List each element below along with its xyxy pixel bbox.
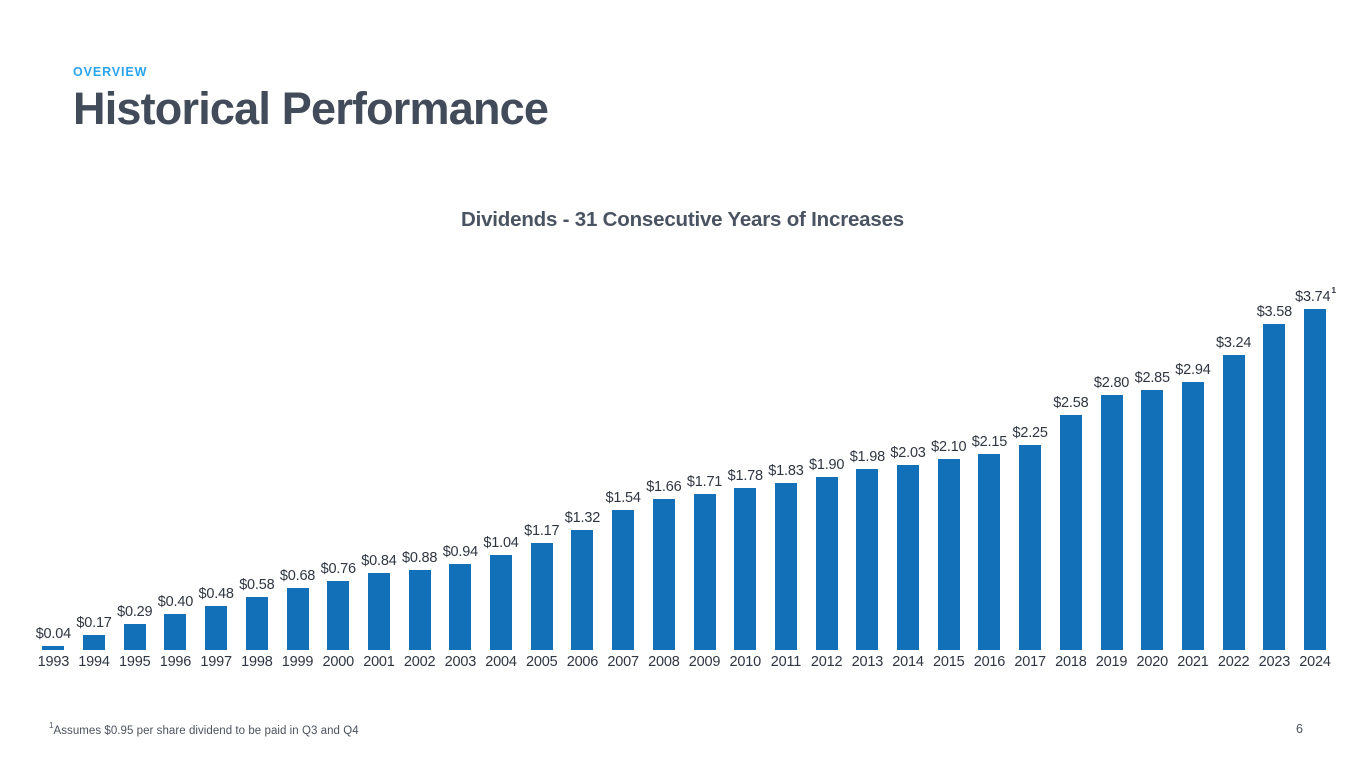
x-axis-label-2003: 2003 (445, 654, 476, 670)
bar-group-2009: $1.712009 (684, 262, 725, 650)
bar-1999 (287, 588, 309, 650)
x-axis-label-2005: 2005 (526, 654, 557, 670)
bar-value-label-2019: $2.80 (1094, 375, 1129, 391)
bar-group-1996: $0.401996 (155, 262, 196, 650)
x-axis-label-1999: 1999 (282, 654, 313, 670)
bar-value-label-2014: $2.03 (890, 445, 925, 461)
bar-group-1993: $0.041993 (33, 262, 74, 650)
bar-group-2005: $1.172005 (521, 262, 562, 650)
x-axis-label-2019: 2019 (1096, 654, 1127, 670)
bar-group-1999: $0.681999 (277, 262, 318, 650)
bar-group-2018: $2.582018 (1051, 262, 1092, 650)
bar-group-2016: $2.152016 (969, 262, 1010, 650)
bar-group-2002: $0.882002 (399, 262, 440, 650)
bar-2012 (816, 477, 838, 650)
bar-2008 (653, 499, 675, 650)
bar-1996 (164, 614, 186, 650)
x-axis-label-2009: 2009 (689, 654, 720, 670)
x-axis-label-2024: 2024 (1299, 654, 1330, 670)
bar-2003 (449, 564, 471, 650)
x-axis-label-1996: 1996 (160, 654, 191, 670)
bar-value-label-2017: $2.25 (1012, 425, 1047, 441)
bar-2020 (1141, 390, 1163, 650)
bar-value-label-2016: $2.15 (972, 434, 1007, 450)
bar-2001 (368, 573, 390, 650)
bar-2009 (694, 494, 716, 650)
footnote-text: Assumes $0.95 per share dividend to be p… (54, 725, 359, 737)
bar-value-label-1995: $0.29 (117, 604, 152, 620)
bar-group-1998: $0.581998 (237, 262, 278, 650)
bar-value-label-2009: $1.71 (687, 474, 722, 490)
bar-group-1994: $0.171994 (74, 262, 115, 650)
x-axis-label-2018: 2018 (1055, 654, 1086, 670)
bar-1995 (124, 624, 146, 650)
bar-group-1997: $0.481997 (196, 262, 237, 650)
footnote: 1Assumes $0.95 per share dividend to be … (49, 722, 359, 737)
bar-group-2000: $0.762000 (318, 262, 359, 650)
bar-value-label-1998: $0.58 (239, 577, 274, 593)
bar-1993 (42, 646, 64, 650)
x-axis-label-1995: 1995 (119, 654, 150, 670)
bar-group-2003: $0.942003 (440, 262, 481, 650)
page-number: 6 (1296, 722, 1303, 736)
x-axis-label-1994: 1994 (78, 654, 109, 670)
bar-value-label-2010: $1.78 (728, 468, 763, 484)
bar-2019 (1101, 395, 1123, 650)
bar-value-label-2007: $1.54 (605, 490, 640, 506)
bar-value-label-2003: $0.94 (443, 544, 478, 560)
x-axis-label-2014: 2014 (892, 654, 923, 670)
bar-2000 (327, 581, 349, 650)
bar-value-label-1996: $0.40 (158, 594, 193, 610)
bar-2005 (531, 543, 553, 650)
bar-value-label-2023: $3.58 (1257, 304, 1292, 320)
bar-group-2012: $1.902012 (806, 262, 847, 650)
x-axis-label-2023: 2023 (1259, 654, 1290, 670)
bar-2006 (571, 530, 593, 650)
x-axis-label-2004: 2004 (485, 654, 516, 670)
x-axis-label-2001: 2001 (363, 654, 394, 670)
bar-value-label-2018: $2.58 (1053, 395, 1088, 411)
bar-2004 (490, 555, 512, 650)
bar-group-2014: $2.032014 (888, 262, 929, 650)
bar-group-2020: $2.852020 (1132, 262, 1173, 650)
x-axis-label-1997: 1997 (200, 654, 231, 670)
bar-1997 (205, 606, 227, 650)
bar-group-1995: $0.291995 (114, 262, 155, 650)
x-axis-label-2015: 2015 (933, 654, 964, 670)
bar-value-label-1993: $0.04 (36, 626, 71, 642)
bar-value-label-2022: $3.24 (1216, 335, 1251, 351)
bar-group-2023: $3.582023 (1254, 262, 1295, 650)
bar-2011 (775, 483, 797, 650)
x-axis-label-2006: 2006 (567, 654, 598, 670)
slide-header: OVERVIEW Historical Performance (73, 66, 548, 133)
bar-2023 (1263, 324, 1285, 650)
bar-group-2006: $1.322006 (562, 262, 603, 650)
bar-group-2015: $2.102015 (928, 262, 969, 650)
x-axis-label-2021: 2021 (1177, 654, 1208, 670)
bar-2021 (1182, 382, 1204, 650)
bar-1998 (246, 597, 268, 650)
bar-2024 (1304, 309, 1326, 650)
bar-group-2011: $1.832011 (766, 262, 807, 650)
bar-value-label-1994: $0.17 (76, 615, 111, 631)
bar-value-label-2021: $2.94 (1175, 362, 1210, 378)
x-axis-label-2020: 2020 (1137, 654, 1168, 670)
bar-group-2001: $0.842001 (359, 262, 400, 650)
bar-2015 (938, 459, 960, 650)
bar-value-label-2020: $2.85 (1135, 370, 1170, 386)
bar-2007 (612, 510, 634, 650)
bar-value-label-2015: $2.10 (931, 439, 966, 455)
bar-2002 (409, 570, 431, 650)
bar-group-2010: $1.782010 (725, 262, 766, 650)
bar-2013 (856, 469, 878, 650)
bar-group-2007: $1.542007 (603, 262, 644, 650)
bar-2017 (1019, 445, 1041, 650)
x-axis-label-1993: 1993 (38, 654, 69, 670)
bar-2014 (897, 465, 919, 650)
section-eyebrow-label: OVERVIEW (73, 66, 548, 79)
x-axis-label-2008: 2008 (648, 654, 679, 670)
bar-2016 (978, 454, 1000, 650)
x-axis-label-2016: 2016 (974, 654, 1005, 670)
x-axis-label-2012: 2012 (811, 654, 842, 670)
dividends-bar-chart: $0.041993$0.171994$0.291995$0.401996$0.4… (30, 262, 1335, 682)
bar-value-label-2004: $1.04 (483, 535, 518, 551)
bar-annotation-marker-2024: 1 (1331, 285, 1336, 295)
bar-value-label-2024: $3.741 (1295, 287, 1335, 305)
x-axis-label-2000: 2000 (323, 654, 354, 670)
x-axis-label-2011: 2011 (771, 654, 801, 670)
x-axis-label-2017: 2017 (1014, 654, 1045, 670)
footnote-marker: 1 (49, 721, 54, 730)
x-axis-label-1998: 1998 (241, 654, 272, 670)
bar-group-2008: $1.662008 (644, 262, 685, 650)
bar-group-2021: $2.942021 (1173, 262, 1214, 650)
bar-group-2024: $3.7412024 (1295, 262, 1336, 650)
bar-group-2017: $2.252017 (1010, 262, 1051, 650)
bar-group-2019: $2.802019 (1091, 262, 1132, 650)
page-title: Historical Performance (73, 85, 548, 134)
bar-value-label-2001: $0.84 (361, 553, 396, 569)
chart-title: Dividends - 31 Consecutive Years of Incr… (0, 208, 1365, 232)
bar-value-label-2000: $0.76 (321, 561, 356, 577)
bar-group-2022: $3.242022 (1213, 262, 1254, 650)
bar-value-label-2006: $1.32 (565, 510, 600, 526)
x-axis-label-2022: 2022 (1218, 654, 1249, 670)
bar-value-label-1999: $0.68 (280, 568, 315, 584)
chart-plot-area: $0.041993$0.171994$0.291995$0.401996$0.4… (30, 262, 1335, 650)
bar-value-label-2002: $0.88 (402, 550, 437, 566)
bar-value-label-2011: $1.83 (768, 463, 803, 479)
bar-value-label-2005: $1.17 (524, 523, 559, 539)
bar-group-2004: $1.042004 (481, 262, 522, 650)
bar-2022 (1223, 355, 1245, 650)
x-axis-label-2002: 2002 (404, 654, 435, 670)
x-axis-label-2007: 2007 (607, 654, 638, 670)
bar-value-label-1997: $0.48 (198, 586, 233, 602)
bar-value-label-2008: $1.66 (646, 479, 681, 495)
x-axis-label-2010: 2010 (730, 654, 761, 670)
bar-2018 (1060, 415, 1082, 650)
bar-1994 (83, 635, 105, 651)
bar-2010 (734, 488, 756, 650)
x-axis-label-2013: 2013 (852, 654, 883, 670)
bar-group-2013: $1.982013 (847, 262, 888, 650)
bar-value-label-2012: $1.90 (809, 457, 844, 473)
bar-value-label-2013: $1.98 (850, 449, 885, 465)
